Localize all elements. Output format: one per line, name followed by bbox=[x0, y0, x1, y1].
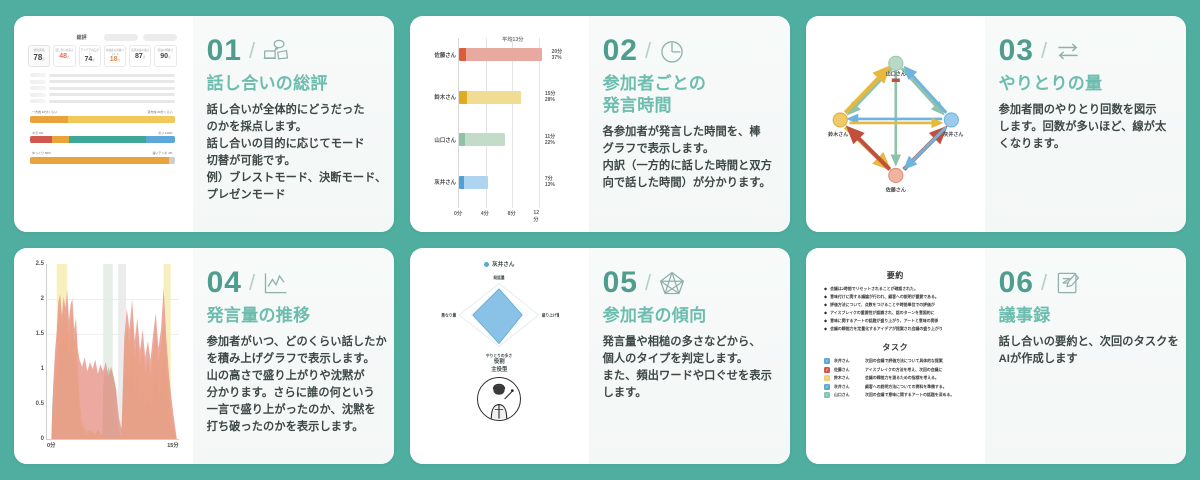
role-block: 役割 主役型 bbox=[491, 359, 507, 375]
slash-divider: / bbox=[1041, 270, 1047, 296]
score-label: 参加者の貢献バランス bbox=[106, 49, 124, 56]
card-03-visual: 山口さん 鈴木さん 灰井さん 佐藤さん bbox=[806, 16, 985, 232]
bar-category-label: 灰井さん bbox=[434, 178, 456, 186]
task-row[interactable]: ✓灰井さん次回の会議で評価方法について具体的な提案 bbox=[824, 358, 967, 364]
feature-card-01[interactable]: 総評 総合評価 78点 話し合いの深さ 48点 アイデアの広がり bbox=[14, 16, 394, 232]
bar-category-label: 山口さん bbox=[434, 136, 456, 144]
score-card-3: 参加者の貢献バランス 18点 bbox=[104, 45, 126, 67]
score-row: 総合評価 78点 話し合いの深さ 48点 アイデアの広がり 74点 参加者の貢献… bbox=[28, 45, 177, 67]
card-title: 参加者ごとの 発言時間 bbox=[603, 73, 774, 117]
summary-bullet: ◆会議の瞬間力を定量化するアイデアが提案され会議の盛り上がり bbox=[824, 326, 967, 332]
bar-row: 灰井さん 7分13% bbox=[459, 176, 549, 189]
metric-bar-track bbox=[30, 157, 175, 164]
card-cell-05: 灰井さん 発話量 盛り上げ量 やりとりの多さ 重なり量 役割 主役型 bbox=[402, 240, 798, 472]
metric-left-label: 一方的 10分くらい bbox=[32, 110, 57, 114]
task-checkbox[interactable]: ✓ bbox=[824, 392, 830, 398]
card-05-text: 05 / 参加者の傾向 発言量や相槌の多さなどから、 個人のタイプを判定します。… bbox=[589, 248, 790, 464]
body-line: 各参加者が発言した時間を、棒 bbox=[603, 124, 774, 141]
comment-line bbox=[30, 86, 175, 90]
metric-bar-segment bbox=[30, 136, 52, 143]
task-checkbox[interactable]: ✓ bbox=[824, 367, 830, 373]
score-unit: 点 bbox=[118, 59, 121, 62]
task-row[interactable]: ✓山口さん次回の会議で意味に関するアートの話題を深める。 bbox=[824, 392, 967, 398]
metric-bar-segment bbox=[68, 116, 175, 123]
card-body: 参加者間のやりとり回数を図示 します。回数が多いほど、線が太 くなります。 bbox=[999, 102, 1170, 153]
edge bbox=[905, 127, 945, 167]
card-02-visual: 平均13分 佐藤さん 20分37% bbox=[410, 16, 589, 232]
body-line: 個人のタイプを判定します。 bbox=[603, 351, 774, 368]
bar-row: 佐藤さん 20分37% bbox=[459, 48, 549, 61]
tasks-heading: タスク bbox=[824, 342, 967, 353]
metric-bar-row: ネガ 0% ポジ 100% bbox=[30, 131, 175, 144]
metric-left-label: ゆっくり 50% bbox=[32, 151, 51, 155]
radar-pentagon-icon bbox=[658, 269, 686, 297]
y-tick-label: 1.5 bbox=[36, 331, 44, 337]
metric-bar-caption: ゆっくり 50% 速いテンポ 4% bbox=[30, 151, 175, 155]
card-cell-06: 要約 ◆会議は2時間でリセットされることが確認された。 ◆意味付けに関する議論が… bbox=[798, 240, 1194, 472]
area-plot-area: 2.5 2 1.5 1 0.5 0 bbox=[46, 264, 179, 440]
card-06-visual: 要約 ◆会議は2時間でリセットされることが確認された。 ◆意味付けに関する議論が… bbox=[806, 248, 985, 464]
card-04-text: 04 / 発言量の推移 参加者がいつ、どのくらい話したか を積み上げグラフで表示… bbox=[193, 248, 394, 464]
task-owner: 灰井さん bbox=[834, 358, 861, 364]
card-01-visual: 総評 総合評価 78点 話し合いの深さ 48点 アイデアの広がり bbox=[14, 16, 193, 232]
radar-axis-label-left: 重なり量 bbox=[442, 313, 457, 318]
body-line: 参加者がいつ、どのくらい話したか bbox=[207, 334, 378, 351]
bullet-text: 意味に関するアートの話題が盛り上がり、アートと意味の関係 bbox=[830, 318, 938, 324]
metric-bar-segment bbox=[30, 116, 68, 123]
body-line: 例）ブレストモード、決断モード、 bbox=[207, 170, 378, 187]
node-haii[interactable] bbox=[944, 113, 958, 127]
body-line: 話し合いの目的に応じてモード bbox=[207, 136, 378, 153]
feature-card-grid: 総評 総合評価 78点 話し合いの深さ 48点 アイデアの広がり bbox=[0, 0, 1200, 480]
task-owner: 佐藤さん bbox=[834, 367, 861, 373]
y-tick-label: 0 bbox=[41, 436, 44, 442]
report-sheet-thumbnail: 総評 総合評価 78点 話し合いの深さ 48点 アイデアの広がり bbox=[20, 22, 187, 226]
task-text: 次回の会議で意味に関するアートの話題を深める。 bbox=[865, 392, 954, 398]
y-tick-label: 2.5 bbox=[36, 261, 44, 267]
body-line: 山の高さで盛り上がりや沈黙が bbox=[207, 368, 378, 385]
bar-segment-mutual bbox=[466, 48, 542, 61]
comment-line bbox=[30, 73, 175, 77]
series-area-sato bbox=[51, 287, 176, 439]
comment-line bbox=[30, 93, 175, 97]
bar-fill bbox=[459, 133, 505, 146]
body-line: グラフで表示します。 bbox=[603, 141, 774, 158]
metric-bar-caption: 一方的 10分くらい 双方向 20分くらい bbox=[30, 110, 175, 114]
legend-color-dot bbox=[484, 262, 489, 267]
comment-text bbox=[49, 80, 175, 83]
bar-percent: 13% bbox=[545, 182, 555, 188]
body-line: します。 bbox=[603, 385, 774, 402]
feature-card-02[interactable]: 平均13分 佐藤さん 20分37% bbox=[410, 16, 790, 232]
metric-left-label: ネガ 0% bbox=[32, 131, 43, 135]
card-title: 話し合いの総評 bbox=[207, 73, 378, 95]
score-value: 87 bbox=[135, 53, 143, 60]
summary-bullet: ◆会議は2時間でリセットされることが確認された。 bbox=[824, 286, 967, 292]
bar-fill bbox=[459, 48, 542, 61]
task-row[interactable]: ✓鈴木さん会議の瞬間力を測るための指標を考える。 bbox=[824, 375, 967, 381]
node-label-sato: 佐藤さん bbox=[884, 187, 905, 194]
card-cell-02: 平均13分 佐藤さん 20分37% bbox=[402, 8, 798, 240]
comment-line bbox=[30, 80, 175, 84]
metric-right-label: 双方向 20分くらい bbox=[147, 110, 172, 114]
slash-divider: / bbox=[645, 38, 651, 64]
bullet-text: 評価方法について、点数をつけることや時間単位での評価が bbox=[830, 302, 935, 308]
score-card-total: 総合評価 78点 bbox=[28, 45, 50, 67]
speaking-time-bar-chart: 平均13分 佐藤さん 20分37% bbox=[416, 22, 583, 226]
body-line: 切替が可能です。 bbox=[207, 153, 378, 170]
card-title: 発言量の推移 bbox=[207, 305, 378, 327]
bullet-text: 会議の瞬間力を定量化するアイデアが提案され会議の盛り上がり bbox=[830, 326, 943, 332]
body-line: を積み上げグラフで表示します。 bbox=[207, 351, 378, 368]
note-edit-icon bbox=[1054, 269, 1082, 297]
feature-card-04[interactable]: 2.5 2 1.5 1 0.5 0 bbox=[14, 248, 394, 464]
metric-bar-row: 一方的 10分くらい 双方向 20分くらい bbox=[30, 110, 175, 123]
comment-icon bbox=[30, 73, 46, 77]
comment-list bbox=[30, 73, 175, 103]
body-line: 向で話した時間）が分かります。 bbox=[603, 175, 774, 192]
bar-segment-mutual bbox=[467, 91, 521, 104]
score-value: 48 bbox=[59, 53, 67, 60]
area-chart-svg bbox=[47, 264, 179, 439]
body-line: AIが作成します bbox=[999, 351, 1170, 368]
body-line: 分かります。さらに誰の何という bbox=[207, 385, 378, 402]
bullet-diamond-icon: ◆ bbox=[824, 302, 827, 308]
body-line: 発言量や相槌の多さなどから、 bbox=[603, 334, 774, 351]
card-number: 03 bbox=[999, 36, 1034, 66]
comment-line bbox=[30, 99, 175, 103]
comment-text bbox=[49, 87, 175, 90]
metric-bar-track bbox=[30, 116, 175, 123]
slash-divider: / bbox=[1041, 38, 1047, 64]
card-number: 05 bbox=[603, 268, 638, 298]
feature-card-06[interactable]: 要約 ◆会議は2時間でリセットされることが確認された。 ◆意味付けに関する議論が… bbox=[806, 248, 1186, 464]
task-checkbox[interactable]: ✓ bbox=[824, 358, 830, 364]
bullet-diamond-icon: ◆ bbox=[824, 294, 827, 300]
card-title-line: 参加者ごとの bbox=[603, 73, 774, 95]
radar-axis-label-bottom: やりとりの多さ bbox=[486, 353, 513, 358]
report-toggle-brainstorm[interactable] bbox=[104, 34, 138, 41]
metric-bar-segment bbox=[30, 157, 169, 164]
body-line: 内訳（一方的に話した時間と双方 bbox=[603, 158, 774, 175]
participant-tendency-radar: 灰井さん 発話量 盛り上げ量 やりとりの多さ 重なり量 役割 主役型 bbox=[416, 254, 583, 458]
bar-value-label: 20分37% bbox=[552, 49, 563, 61]
card-title: やりとりの量 bbox=[999, 73, 1170, 95]
radar-svg: 発話量 盛り上げ量 やりとりの多さ 重なり量 bbox=[439, 269, 559, 361]
bullet-diamond-icon: ◆ bbox=[824, 318, 827, 324]
bar-segment-mutual bbox=[464, 176, 488, 189]
node-sato[interactable] bbox=[888, 168, 902, 182]
body-line: 一言で盛り上がったのか、沈黙を bbox=[207, 402, 378, 419]
task-text: 次回の会議で評価方法について具体的な提案 bbox=[865, 358, 943, 364]
card-05-head: 05 / bbox=[603, 268, 774, 298]
edge bbox=[901, 68, 941, 112]
metric-bar-segment bbox=[52, 136, 69, 143]
score-label: アイデアの広がり bbox=[81, 49, 99, 56]
card-06-head: 06 / bbox=[999, 268, 1170, 298]
score-unit: 点 bbox=[143, 56, 146, 59]
bullet-text: 会議は2時間でリセットされることが確認された。 bbox=[830, 286, 918, 292]
interaction-network-diagram: 山口さん 鈴木さん 灰井さん 佐藤さん bbox=[812, 22, 979, 226]
report-toggle-decision[interactable] bbox=[143, 34, 177, 41]
card-03-text: 03 / やりとりの量 参加者間のやりとり回数を図示 します。回数が多いほど、線… bbox=[985, 16, 1186, 232]
card-body: 参加者がいつ、どのくらい話したか を積み上げグラフで表示します。 山の高さで盛り… bbox=[207, 334, 378, 436]
bar-segment-oneway bbox=[459, 91, 467, 104]
score-unit: 点 bbox=[42, 58, 45, 61]
clock-pie-icon bbox=[658, 37, 686, 65]
metric-right-label: 速いテンポ 4% bbox=[152, 151, 172, 155]
summary-bullet: ◆意味に関するアートの話題が盛り上がり、アートと意味の関係 bbox=[824, 318, 967, 324]
card-04-head: 04 / bbox=[207, 268, 378, 298]
bar-percent: 22% bbox=[545, 140, 555, 146]
x-tick-label: 15分 bbox=[167, 441, 178, 449]
card-01-head: 01 / bbox=[207, 36, 378, 66]
score-unit: 点 bbox=[67, 56, 70, 59]
comment-icon bbox=[30, 93, 46, 97]
score-value: 18 bbox=[110, 56, 118, 63]
bullet-diamond-icon: ◆ bbox=[824, 326, 827, 332]
network-svg: 山口さん 鈴木さん 灰井さん 佐藤さん bbox=[815, 25, 977, 223]
bullet-text: 意味付けに関する議論が行われ、顧客への説明が重要である。 bbox=[830, 294, 939, 300]
radar-legend: 灰井さん bbox=[484, 260, 514, 268]
bar-percent: 28% bbox=[545, 97, 555, 103]
card-cell-04: 2.5 2 1.5 1 0.5 0 bbox=[6, 240, 402, 472]
bar-value-label: 7分13% bbox=[545, 176, 555, 188]
bar-plot-area: 平均13分 佐藤さん 20分37% bbox=[458, 38, 549, 208]
edge bbox=[845, 68, 887, 112]
card-body: 話し合いが全体的にどうだった のかを採点します。 話し合いの目的に応じてモード … bbox=[207, 102, 378, 204]
comment-icon bbox=[30, 80, 46, 84]
minutes-thumbnail: 要約 ◆会議は2時間でリセットされることが確認された。 ◆意味付けに関する議論が… bbox=[812, 254, 979, 458]
body-line: くなります。 bbox=[999, 136, 1170, 153]
body-line: プレゼンモード bbox=[207, 187, 378, 204]
score-unit: 点 bbox=[92, 59, 95, 62]
card-number: 06 bbox=[999, 268, 1034, 298]
card-03-head: 03 / bbox=[999, 36, 1170, 66]
metric-bar-segment bbox=[69, 136, 146, 143]
bar-segment-mutual bbox=[465, 133, 505, 146]
bullet-diamond-icon: ◆ bbox=[824, 286, 827, 292]
comment-text bbox=[49, 74, 175, 77]
exchange-arrows-icon bbox=[1054, 37, 1082, 65]
task-owner: 鈴木さん bbox=[834, 375, 861, 381]
radar-plot-wrap: 発話量 盛り上げ量 やりとりの多さ 重なり量 bbox=[439, 269, 559, 361]
card-01-text: 01 / 話し合いの総評 話し合いが全体的にどうだった のかを採点します。 話し… bbox=[193, 16, 394, 232]
report-topbar: 総評 bbox=[26, 34, 177, 41]
metric-right-label: ポジ 100% bbox=[158, 131, 173, 135]
x-tick-label: 0分 bbox=[454, 210, 462, 217]
x-tick-label: 8分 bbox=[508, 210, 516, 217]
radar-axis-label-top: 発話量 bbox=[493, 275, 506, 280]
x-tick-label: 0分 bbox=[47, 441, 55, 449]
metric-bar-segment bbox=[169, 157, 175, 164]
bar-value-label: 11分22% bbox=[545, 134, 555, 146]
bullet-diamond-icon: ◆ bbox=[824, 310, 827, 316]
edge bbox=[905, 68, 945, 112]
card-number: 04 bbox=[207, 268, 242, 298]
presenter-avatar bbox=[477, 377, 521, 421]
task-text: 会議の瞬間力を測るための指標を考える。 bbox=[865, 375, 939, 381]
card-number: 01 bbox=[207, 36, 242, 66]
card-cell-03: 山口さん 鈴木さん 灰井さん 佐藤さん 03 / やりとりの量 bbox=[798, 8, 1194, 240]
body-line: 打ち破ったのかを表示します。 bbox=[207, 419, 378, 436]
task-checkbox[interactable]: ✓ bbox=[824, 375, 830, 381]
summary-bullet: ◆評価方法について、点数をつけることや時間単位での評価が bbox=[824, 302, 967, 308]
comment-icon bbox=[30, 86, 46, 90]
node-suzuki[interactable] bbox=[833, 113, 847, 127]
card-title: 議事録 bbox=[999, 305, 1170, 327]
score-card-5: 結論の明確さ 90点 bbox=[154, 45, 176, 67]
card-body: 話し合いの要約と、次回のタスクを AIが作成します bbox=[999, 334, 1170, 368]
score-unit: 点 bbox=[168, 56, 171, 59]
y-tick-label: 2 bbox=[41, 296, 44, 302]
comment-icon bbox=[30, 99, 46, 103]
node-label-haii: 灰井さん bbox=[943, 131, 963, 138]
legend-label: 灰井さん bbox=[492, 260, 514, 268]
bar-value-label: 15分28% bbox=[545, 91, 556, 103]
card-05-visual: 灰井さん 発話量 盛り上げ量 やりとりの多さ 重なり量 役割 主役型 bbox=[410, 248, 589, 464]
task-owner: 灰井さん bbox=[834, 384, 861, 390]
score-card-1: 話し合いの深さ 48点 bbox=[53, 45, 75, 67]
role-value: 主役型 bbox=[491, 367, 507, 375]
card-cell-01: 総評 総合評価 78点 話し合いの深さ 48点 アイデアの広がり bbox=[6, 8, 402, 240]
bar-row: 鈴木さん 15分28% bbox=[459, 91, 549, 104]
metric-bar-track bbox=[30, 136, 175, 143]
node-badge bbox=[891, 79, 899, 83]
speech-volume-timeline: 2.5 2 1.5 1 0.5 0 bbox=[20, 254, 187, 458]
report-header-title: 総評 bbox=[77, 34, 87, 41]
comment-text bbox=[49, 100, 175, 103]
body-line: 話し合いが全体的にどうだった bbox=[207, 102, 378, 119]
metric-bar-caption: ネガ 0% ポジ 100% bbox=[30, 131, 175, 135]
x-tick-label: 12分 bbox=[533, 210, 543, 223]
task-owner: 山口さん bbox=[834, 392, 861, 398]
card-body: 各参加者が発言した時間を、棒 グラフで表示します。 内訳（一方的に話した時間と双… bbox=[603, 124, 774, 192]
body-line: 参加者間のやりとり回数を図示 bbox=[999, 102, 1170, 119]
score-value: 78 bbox=[33, 53, 42, 62]
node-label-suzuki: 鈴木さん bbox=[827, 131, 848, 138]
bar-percent: 37% bbox=[552, 55, 562, 61]
node-label-yamaguchi: 山口さん bbox=[885, 71, 905, 78]
slash-divider: / bbox=[249, 270, 255, 296]
summary-heading: 要約 bbox=[824, 270, 967, 281]
y-tick-label: 0.5 bbox=[36, 401, 44, 407]
task-row[interactable]: ✓灰井さん顧客への説明方法についての資料を準備する。 bbox=[824, 384, 967, 390]
card-06-text: 06 / 議事録 話し合いの要約と、次回のタスクを AIが作成します bbox=[985, 248, 1186, 464]
slash-divider: / bbox=[645, 270, 651, 296]
x-tick-label: 4分 bbox=[481, 210, 489, 217]
feature-card-03[interactable]: 山口さん 鈴木さん 灰井さん 佐藤さん 03 / やりとりの量 bbox=[806, 16, 1186, 232]
card-04-visual: 2.5 2 1.5 1 0.5 0 bbox=[14, 248, 193, 464]
bar-segment-oneway bbox=[459, 48, 466, 61]
metric-bar-segment bbox=[146, 136, 175, 143]
bar-fill bbox=[459, 91, 521, 104]
node-yamaguchi[interactable] bbox=[888, 56, 902, 70]
bar-fill bbox=[459, 176, 488, 189]
card-title: 参加者の傾向 bbox=[603, 305, 774, 327]
bar-row: 山口さん 11分22% bbox=[459, 133, 549, 146]
task-text: アイスブレイクの方法を考え、次回の会議に bbox=[865, 367, 942, 373]
score-card-4: 意思決定の速さ 87点 bbox=[129, 45, 151, 67]
body-line: 話し合いの要約と、次回のタスクを bbox=[999, 334, 1170, 351]
bar-category-label: 鈴木さん bbox=[434, 93, 456, 101]
bar-chart-x-axis: 0分 4分 8分 12分 bbox=[458, 208, 549, 220]
metric-bar-row: ゆっくり 50% 速いテンポ 4% bbox=[30, 151, 175, 164]
card-body: 発言量や相槌の多さなどから、 個人のタイプを判定します。 また、頻出ワードや口ぐ… bbox=[603, 334, 774, 402]
body-line: また、頻出ワードや口ぐせを表示 bbox=[603, 368, 774, 385]
card-number: 02 bbox=[603, 36, 638, 66]
body-line: します。回数が多いほど、線が太 bbox=[999, 119, 1170, 136]
task-row[interactable]: ✓佐藤さんアイスブレイクの方法を考え、次回の会議に bbox=[824, 367, 967, 373]
task-text: 顧客への説明方法についての資料を準備する。 bbox=[865, 384, 947, 390]
task-checkbox[interactable]: ✓ bbox=[824, 384, 830, 390]
feature-card-05[interactable]: 灰井さん 発話量 盛り上げ量 やりとりの多さ 重なり量 役割 主役型 bbox=[410, 248, 790, 464]
radar-axis-label-right: 盛り上げ量 bbox=[542, 313, 559, 318]
slash-divider: / bbox=[249, 38, 255, 64]
summary-bullet: ◆アイスブレイクの重要性が認識され、話のターンを意図的に bbox=[824, 310, 967, 316]
bar-chart-body: 平均13分 佐藤さん 20分37% bbox=[422, 38, 575, 220]
comment-text bbox=[49, 93, 175, 96]
bullet-text: アイスブレイクの重要性が認識され、話のターンを意図的に bbox=[830, 310, 935, 316]
line-chart-icon bbox=[262, 269, 290, 297]
edge bbox=[849, 129, 889, 169]
card-title-line: 発言時間 bbox=[603, 95, 774, 117]
score-value: 90 bbox=[160, 53, 168, 60]
bar-category-label: 佐藤さん bbox=[434, 51, 456, 59]
presentation-chat-icon bbox=[262, 37, 290, 65]
summary-bullet: ◆意味付けに関する議論が行われ、顧客への説明が重要である。 bbox=[824, 294, 967, 300]
card-02-text: 02 / 参加者ごとの 発言時間 各参加者が発言した時間を、棒 グラフで表示しま… bbox=[589, 16, 790, 232]
body-line: のかを採点します。 bbox=[207, 119, 378, 136]
score-card-2: アイデアの広がり 74点 bbox=[79, 45, 101, 67]
metric-bar-list: 一方的 10分くらい 双方向 20分くらい ネガ 0% ポジ 100% bbox=[30, 110, 175, 164]
card-02-head: 02 / bbox=[603, 36, 774, 66]
y-tick-label: 1 bbox=[41, 366, 44, 372]
